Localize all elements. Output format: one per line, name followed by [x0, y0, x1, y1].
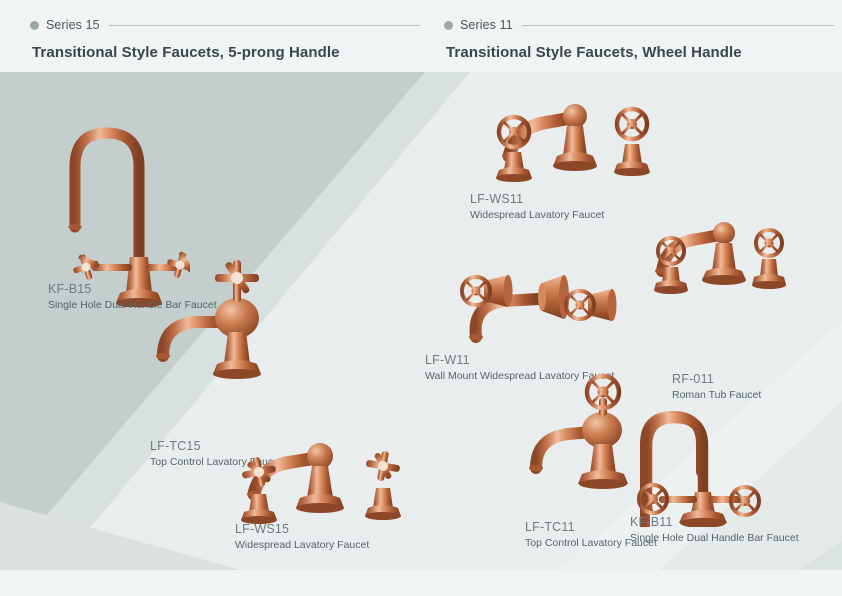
series-label: Series 11	[460, 18, 513, 32]
faucet-art-bar-wheel	[625, 382, 770, 527]
faucet-art-wallmount-wheel	[420, 257, 640, 352]
catalog-page: Series 15 Transitional Style Faucets, 5-…	[0, 0, 842, 596]
product-sku: LF-WS11	[470, 192, 604, 206]
product-lf-w11[interactable]: LF-W11 Wall Mount Widespread Lavatory Fa…	[420, 257, 670, 387]
faucet-art-widespread-cross	[230, 422, 410, 532]
faucet-art-widespread-wheel	[465, 92, 665, 202]
product-desc: Widespread Lavatory Faucet	[235, 539, 369, 551]
product-caption: LF-WS15 Widespread Lavatory Faucet	[235, 522, 369, 551]
product-sku: LF-W11	[425, 353, 614, 367]
header-rule	[109, 25, 420, 26]
product-lf-tc15[interactable]: LF-TC15 Top Control Lavatory Faucet	[145, 252, 365, 402]
page-footer	[0, 570, 842, 596]
page-header: Series 15 Transitional Style Faucets, 5-…	[0, 0, 842, 72]
column-header-series-15: Series 15 Transitional Style Faucets, 5-…	[30, 0, 420, 61]
series-bullet-icon	[444, 21, 453, 30]
product-lf-ws11[interactable]: LF-WS11 Widespread Lavatory Faucet	[465, 92, 715, 232]
faucet-art-romantub-wheel	[650, 217, 800, 317]
product-stage: KF-B15 Single Hole Dual Handle Bar Fauce…	[0, 72, 842, 570]
column-header-series-11: Series 11 Transitional Style Faucets, Wh…	[444, 0, 834, 61]
series-row: Series 15	[30, 0, 420, 40]
column-title: Transitional Style Faucets, Wheel Handle	[446, 44, 834, 61]
series-bullet-icon	[30, 21, 39, 30]
product-kf-b11[interactable]: KF-B11 Single Hole Dual Handle Bar Fauce…	[625, 382, 840, 532]
product-desc: Widespread Lavatory Faucet	[470, 209, 604, 221]
series-label: Series 15	[46, 18, 100, 32]
product-caption: LF-WS11 Widespread Lavatory Faucet	[470, 192, 604, 221]
product-sku: LF-WS15	[235, 522, 369, 536]
product-desc: Single Hole Dual Handle Bar Faucet	[630, 532, 799, 544]
product-caption: KF-B11 Single Hole Dual Handle Bar Fauce…	[630, 515, 799, 544]
faucet-art-topcontrol-cross	[145, 252, 290, 382]
product-rf-011[interactable]: RF-011 Roman Tub Faucet	[650, 217, 840, 347]
header-rule	[522, 25, 834, 26]
product-lf-ws15[interactable]: LF-WS15 Widespread Lavatory Faucet	[230, 422, 490, 552]
column-title: Transitional Style Faucets, 5-prong Hand…	[32, 44, 420, 61]
series-row: Series 11	[444, 0, 834, 40]
product-sku: KF-B11	[630, 515, 799, 529]
